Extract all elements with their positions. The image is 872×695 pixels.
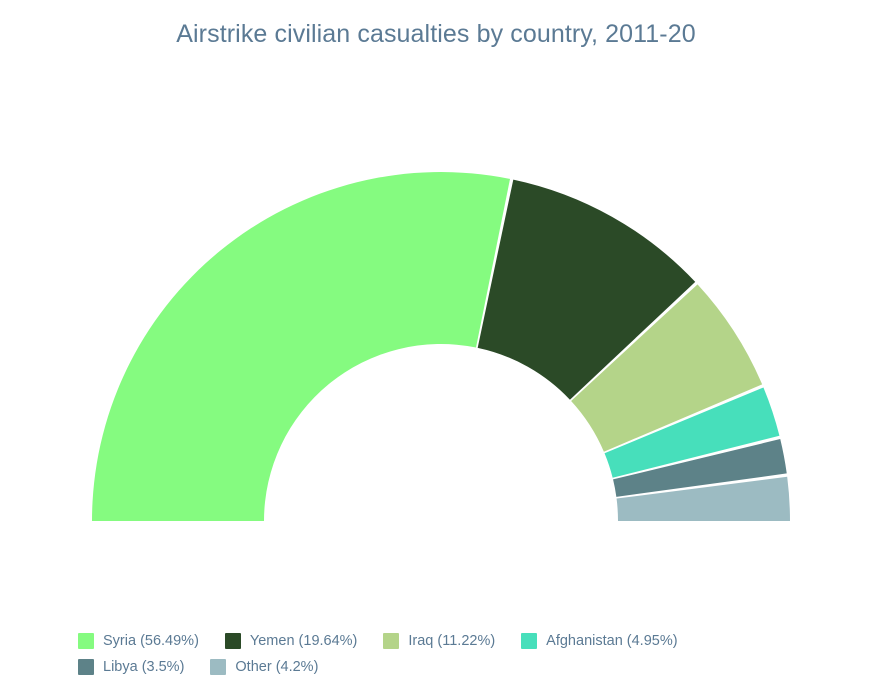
chart-legend: Syria (56.49%)Yemen (19.64%)Iraq (11.22%…	[0, 628, 872, 680]
legend-label-other: Other (4.2%)	[235, 660, 318, 675]
legend-item-iraq[interactable]: Iraq (11.22%)	[383, 628, 495, 654]
pie-slice-syria[interactable]: Syria (56.49%)	[92, 172, 510, 521]
legend-swatch-libya	[78, 659, 94, 675]
legend-item-other[interactable]: Other (4.2%)	[210, 654, 318, 680]
legend-label-syria: Syria (56.49%)	[103, 634, 199, 649]
legend-item-yemen[interactable]: Yemen (19.64%)	[225, 628, 357, 654]
legend-label-yemen: Yemen (19.64%)	[250, 634, 357, 649]
legend-swatch-other	[210, 659, 226, 675]
legend-item-libya[interactable]: Libya (3.5%)	[78, 654, 184, 680]
chart-root: Airstrike civilian casualties by country…	[0, 0, 872, 695]
legend-swatch-afghanistan	[521, 633, 537, 649]
slice-group: Syria (56.49%)Yemen (19.64%)Iraq (11.22%…	[92, 172, 790, 521]
half-donut-chart: Syria (56.49%)Yemen (19.64%)Iraq (11.22%…	[0, 0, 872, 695]
legend-swatch-iraq	[383, 633, 399, 649]
legend-item-syria[interactable]: Syria (56.49%)	[78, 628, 199, 654]
legend-label-iraq: Iraq (11.22%)	[408, 634, 495, 649]
legend-item-afghanistan[interactable]: Afghanistan (4.95%)	[521, 628, 677, 654]
legend-label-afghanistan: Afghanistan (4.95%)	[546, 634, 677, 649]
legend-swatch-yemen	[225, 633, 241, 649]
legend-label-libya: Libya (3.5%)	[103, 660, 184, 675]
legend-swatch-syria	[78, 633, 94, 649]
